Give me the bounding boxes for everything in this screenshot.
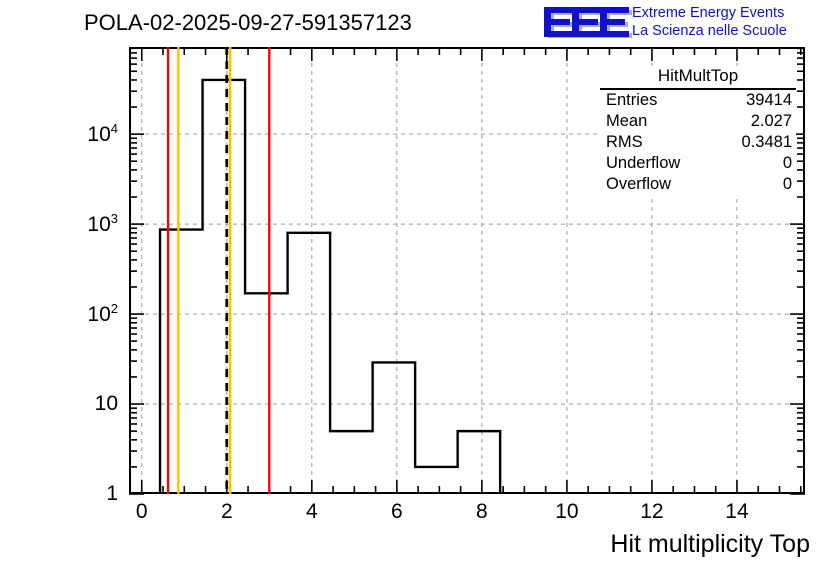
y-tick-label: 102 [40, 301, 118, 327]
stats-row-key: Mean [606, 112, 647, 131]
x-tick-label: 2 [221, 500, 233, 524]
histogram-outline [160, 80, 500, 494]
x-tick-label: 4 [306, 500, 318, 524]
stats-row-value: 39414 [746, 91, 792, 110]
x-tick-label: 0 [136, 500, 148, 524]
stats-row: Overflow0 [600, 174, 796, 195]
stats-row: Mean2.027 [600, 111, 796, 132]
x-tick-label: 14 [725, 500, 748, 524]
stats-row: RMS0.3481 [600, 132, 796, 153]
stats-row-value: 2.027 [751, 112, 792, 131]
stats-row-value: 0.3481 [742, 133, 792, 152]
stats-rows: Entries39414Mean2.027RMS0.3481Underflow0… [600, 90, 796, 195]
stats-row-value: 0 [783, 154, 792, 173]
x-tick-label: 10 [555, 500, 578, 524]
stats-row: Underflow0 [600, 153, 796, 174]
stats-box-title: HitMultTop [600, 66, 796, 90]
root-canvas: POLA-02-2025-09-27-591357123 Extreme Ene… [0, 0, 836, 572]
stats-row-key: Entries [606, 91, 657, 110]
y-tick-label: 10 [40, 392, 118, 416]
stats-box: HitMultTop Entries39414Mean2.027RMS0.348… [600, 66, 796, 195]
x-axis-title: Hit multiplicity Top [610, 530, 810, 559]
x-tick-label: 12 [640, 500, 663, 524]
y-tick-label: 104 [40, 121, 118, 147]
stats-row: Entries39414 [600, 90, 796, 111]
x-tick-label: 8 [476, 500, 488, 524]
stats-row-key: Overflow [606, 175, 671, 194]
stats-row-key: RMS [606, 133, 643, 152]
stats-row-key: Underflow [606, 154, 680, 173]
stats-row-value: 0 [783, 175, 792, 194]
threshold-markers [168, 47, 269, 494]
y-tick-label: 103 [40, 211, 118, 237]
y-tick-label: 1 [40, 482, 118, 506]
x-tick-label: 6 [391, 500, 403, 524]
